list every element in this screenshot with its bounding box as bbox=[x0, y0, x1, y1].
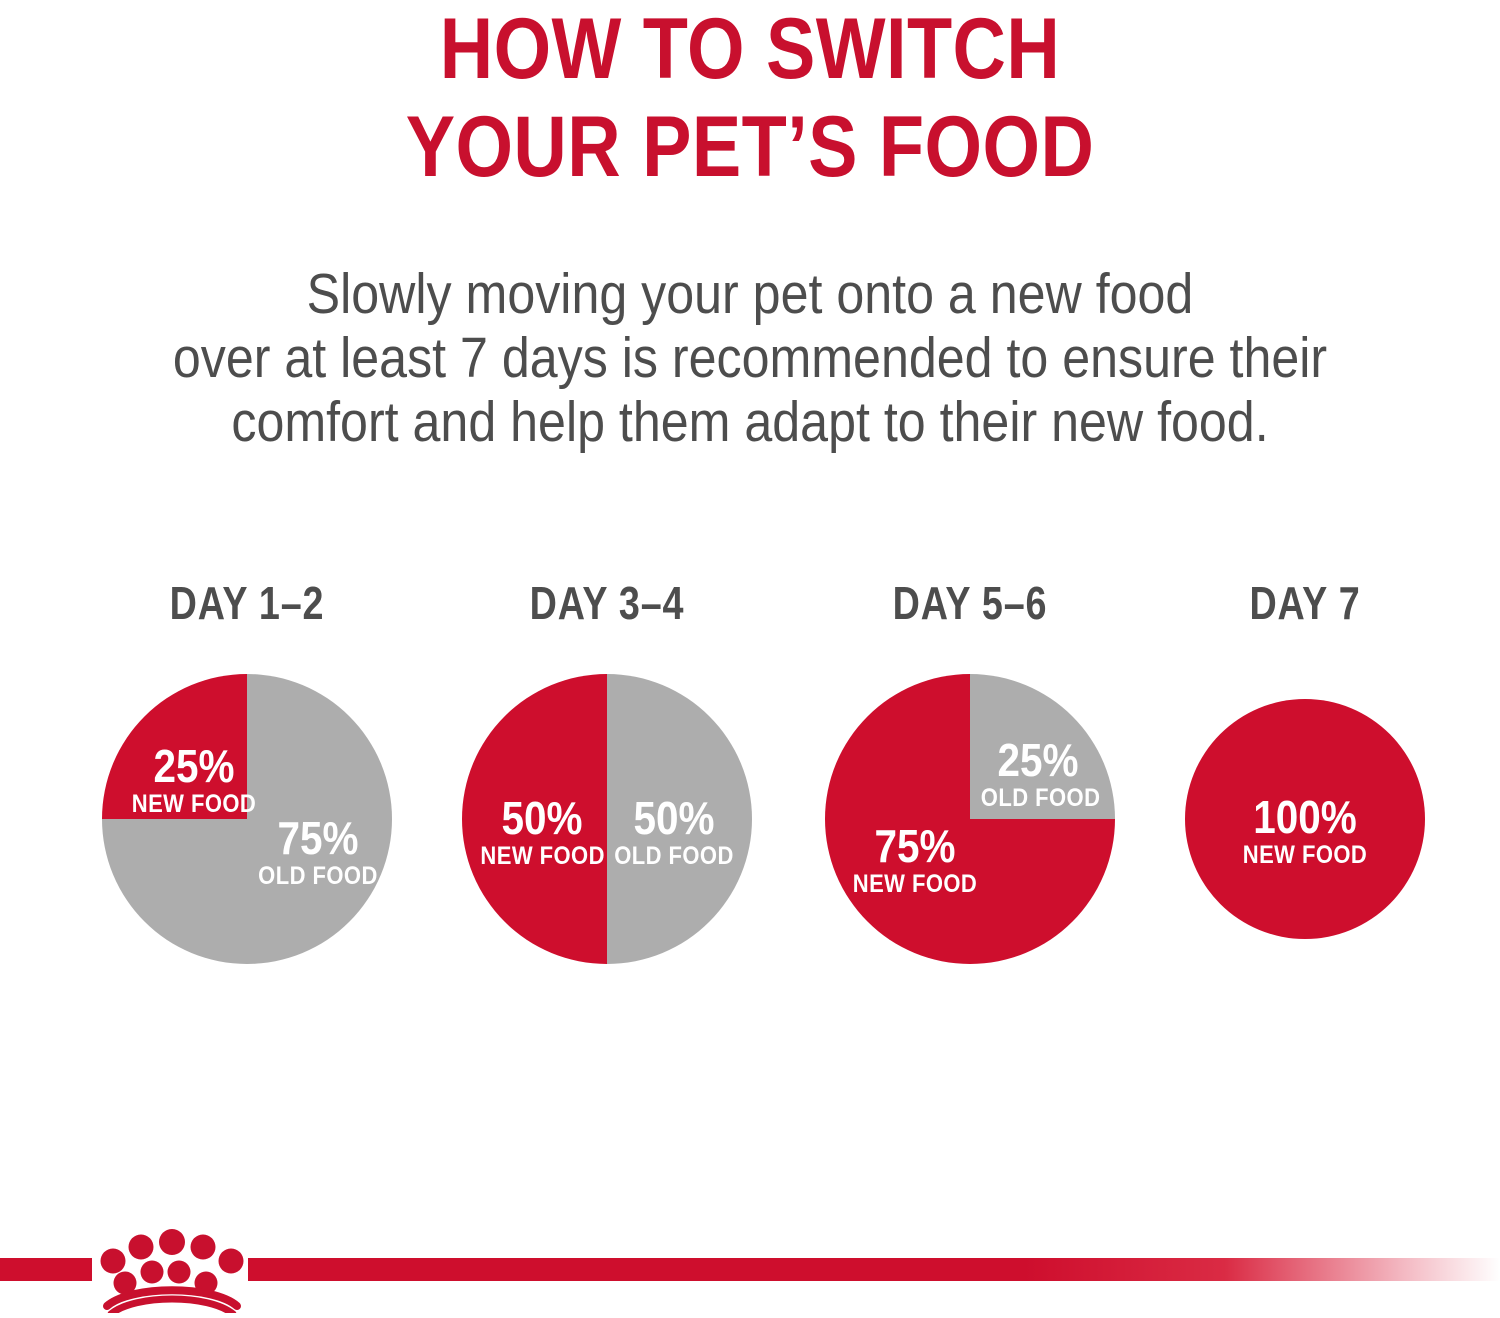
slice-percent-new-food-day-5-6: 75% bbox=[848, 822, 982, 870]
slice-label-new-food-day-5-6: 75% NEW FOOD bbox=[839, 822, 991, 898]
day-label-3: DAY 5–6 bbox=[835, 580, 1106, 626]
royal-canin-crown-icon bbox=[95, 1228, 250, 1313]
slice-name-old-food-day-5-6: OLD FOOD bbox=[981, 784, 1095, 812]
slice-label-new-food-day-7: 100% NEW FOOD bbox=[1210, 793, 1400, 869]
day-label-1: DAY 1–2 bbox=[112, 580, 383, 626]
pie-chart-day-3-4: 50% NEW FOOD 50% OLD FOOD bbox=[462, 674, 752, 964]
day-3-4-column: DAY 3–4 50% NEW FOOD 50% OLD FOOD bbox=[442, 580, 772, 964]
slice-name-old-food-day-3-4: OLD FOOD bbox=[612, 842, 735, 870]
slice-percent-old-food-day-5-6: 25% bbox=[981, 736, 1095, 784]
slice-name-new-food-day-1-2: NEW FOOD bbox=[127, 790, 261, 818]
footer-rule-right bbox=[248, 1258, 1500, 1281]
intro-paragraph: Slowly moving your pet onto a new food o… bbox=[90, 262, 1410, 454]
slice-percent-new-food-day-1-2: 25% bbox=[127, 742, 261, 790]
transition-schedule-chart-row: DAY 1–2 25% NEW FOOD 75% OLD FOOD DAY 3–… bbox=[0, 580, 1500, 1000]
slice-label-new-food-day-3-4: 50% NEW FOOD bbox=[472, 794, 612, 870]
intro-line-2: over at least 7 days is recommended to e… bbox=[90, 326, 1410, 390]
page-title: HOW TO SWITCH YOUR PET’S FOOD bbox=[105, 6, 1395, 190]
page-title-line-1: HOW TO SWITCH bbox=[105, 6, 1395, 92]
footer-brand-band bbox=[0, 1210, 1500, 1313]
slice-percent-old-food-day-1-2: 75% bbox=[251, 814, 385, 862]
slice-label-old-food-day-1-2: 75% OLD FOOD bbox=[242, 814, 394, 890]
slice-name-new-food-day-7: NEW FOOD bbox=[1221, 841, 1388, 869]
pie-disc-day-5-6 bbox=[825, 674, 1115, 964]
slice-percent-new-food-day-7: 100% bbox=[1221, 793, 1388, 841]
slice-label-old-food-day-5-6: 25% OLD FOOD bbox=[973, 736, 1103, 812]
intro-line-3: comfort and help them adapt to their new… bbox=[90, 390, 1410, 454]
footer-rule-left bbox=[0, 1258, 92, 1281]
slice-percent-old-food-day-3-4: 50% bbox=[612, 794, 735, 842]
slice-label-old-food-day-3-4: 50% OLD FOOD bbox=[604, 794, 744, 870]
pie-chart-day-5-6: 25% OLD FOOD 75% NEW FOOD bbox=[825, 674, 1115, 964]
day-5-6-column: DAY 5–6 25% OLD FOOD 75% NEW FOOD bbox=[805, 580, 1135, 964]
intro-line-1: Slowly moving your pet onto a new food bbox=[90, 262, 1410, 326]
pie-chart-day-7: 100% NEW FOOD bbox=[1185, 699, 1425, 939]
slice-percent-new-food-day-3-4: 50% bbox=[480, 794, 603, 842]
pie-chart-day-1-2: 25% NEW FOOD 75% OLD FOOD bbox=[102, 674, 392, 964]
day-7-column: DAY 7 100% NEW FOOD bbox=[1140, 580, 1470, 939]
day-label-4: DAY 7 bbox=[1170, 580, 1441, 626]
slice-name-new-food-day-5-6: NEW FOOD bbox=[848, 870, 982, 898]
day-label-2: DAY 3–4 bbox=[472, 580, 743, 626]
day-1-2-column: DAY 1–2 25% NEW FOOD 75% OLD FOOD bbox=[82, 580, 412, 964]
slice-label-new-food-day-1-2: 25% NEW FOOD bbox=[118, 742, 270, 818]
page-title-line-2: YOUR PET’S FOOD bbox=[105, 104, 1395, 190]
slice-name-new-food-day-3-4: NEW FOOD bbox=[480, 842, 603, 870]
slice-name-old-food-day-1-2: OLD FOOD bbox=[251, 862, 385, 890]
